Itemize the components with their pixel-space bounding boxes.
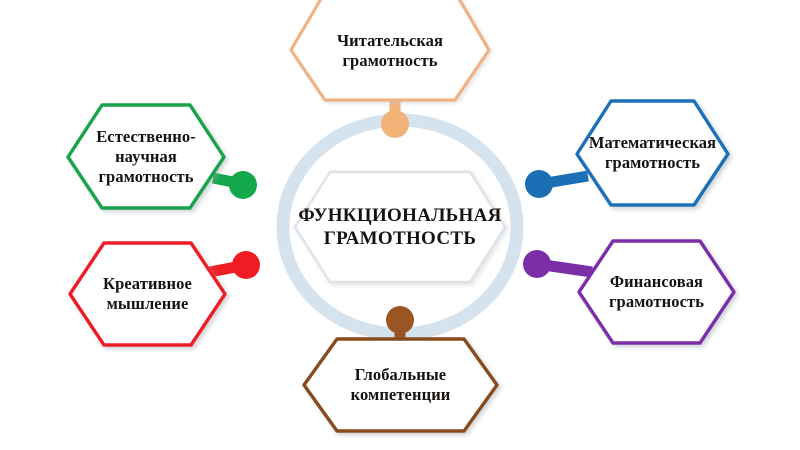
dot-science[interactable] — [229, 171, 257, 199]
hexagon-financial[interactable] — [579, 241, 734, 343]
dot-creative[interactable] — [232, 251, 260, 279]
hexagon-reading[interactable] — [291, 0, 489, 100]
hexagon-creative[interactable] — [70, 243, 225, 345]
diagram-graphic — [0, 0, 800, 450]
dot-reading[interactable] — [381, 110, 409, 138]
dot-math[interactable] — [525, 170, 553, 198]
hexagon-global[interactable] — [304, 339, 497, 431]
hexagon-math[interactable] — [577, 101, 728, 205]
dot-global[interactable] — [386, 306, 414, 334]
hexagon-center[interactable] — [295, 172, 505, 282]
diagram-canvas: Читательская грамотность Естественно- на… — [0, 0, 800, 450]
hexagon-science[interactable] — [68, 105, 224, 208]
dot-financial[interactable] — [523, 250, 551, 278]
